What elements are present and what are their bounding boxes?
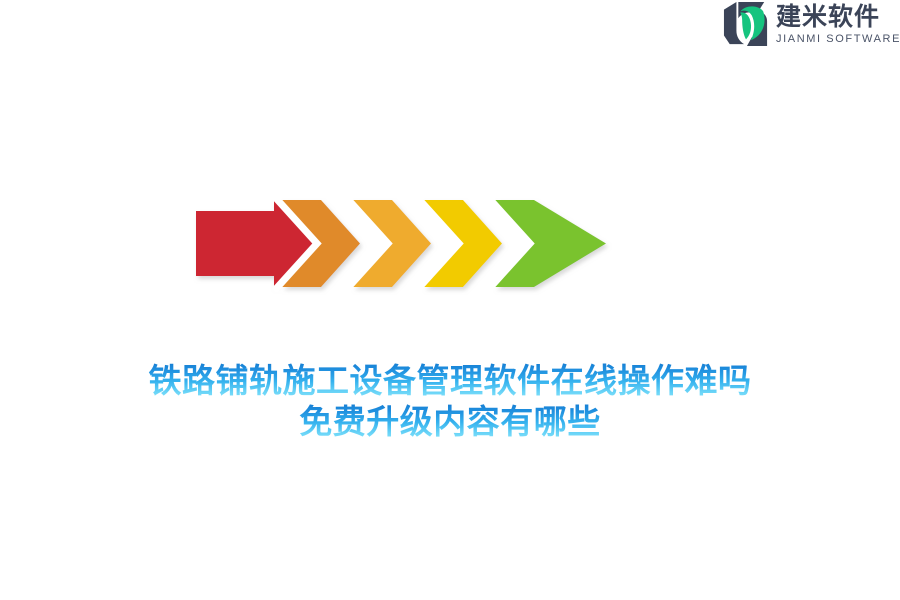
brand-name-cn: 建米软件: [776, 4, 900, 29]
page-title: 铁路铺轨施工设备管理软件在线操作难吗 免费升级内容有哪些: [0, 360, 900, 442]
five-step-chevron-arrow-graphic: [182, 190, 622, 298]
page-title-line-1: 铁路铺轨施工设备管理软件在线操作难吗: [0, 360, 900, 401]
jianmi-hexagon-leaf-logo-icon: [722, 1, 770, 47]
arrow-step-5: [495, 200, 606, 287]
brand-name-en: JIANMI SOFTWARE: [776, 34, 900, 45]
brand-logo[interactable]: 建米软件 JIANMI SOFTWARE: [722, 0, 894, 48]
page-title-line-2: 免费升级内容有哪些: [0, 401, 900, 442]
brand-wordmark: 建米软件 JIANMI SOFTWARE: [776, 3, 900, 45]
chevron-arrow-svg: [182, 190, 622, 298]
